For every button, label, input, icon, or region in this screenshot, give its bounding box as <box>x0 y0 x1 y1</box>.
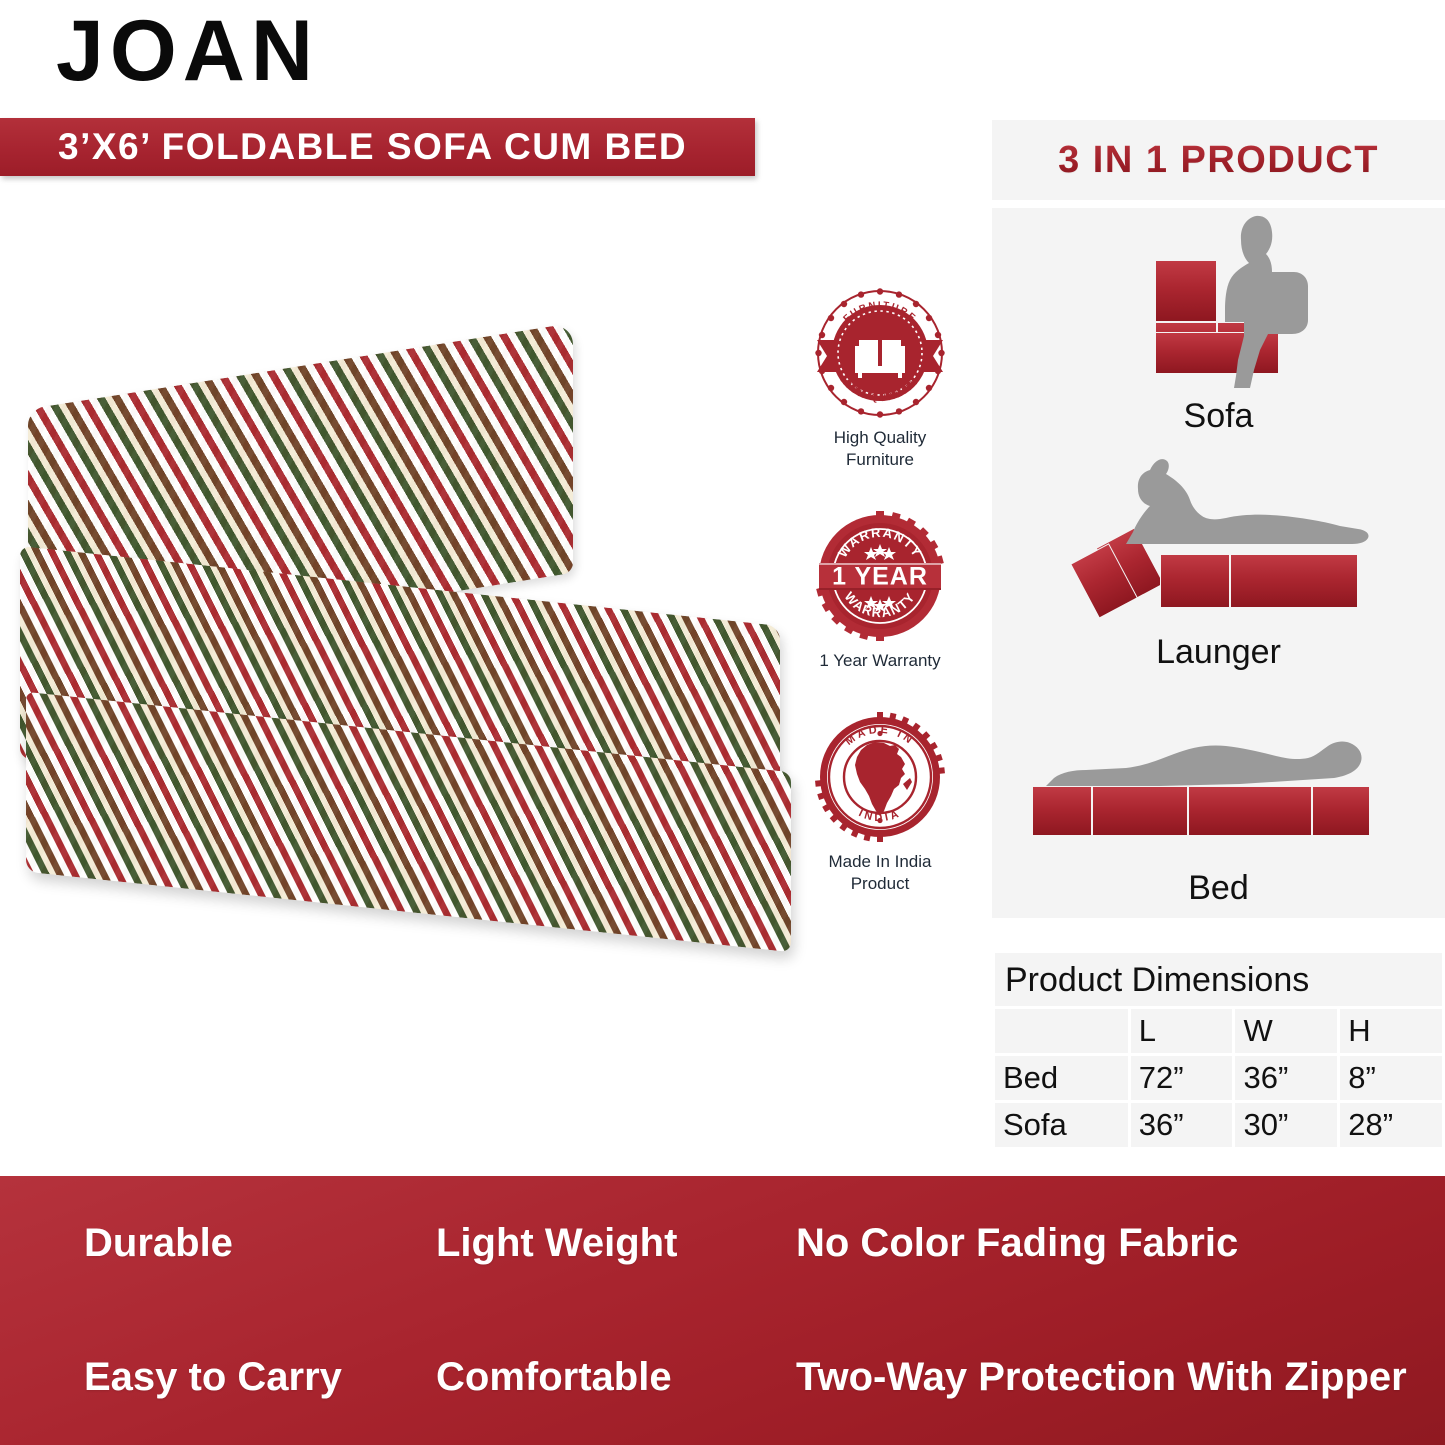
sofa-width: 30” <box>1235 1103 1337 1147</box>
subtitle-banner: 3’X6’ FOLDABLE SOFA CUM BED <box>0 118 755 176</box>
badge-one-year-warranty: 1 YEAR WARRANTY WARRANTY <box>795 511 965 672</box>
row-label-sofa: Sofa <box>995 1103 1128 1147</box>
feature-two-way-zipper: Two-Way Protection With Zipper <box>730 1355 1445 1400</box>
config-sofa-label: Sofa <box>992 397 1445 436</box>
one-year-warranty-seal-icon: 1 YEAR WARRANTY WARRANTY <box>815 511 945 641</box>
col-header-length: L <box>1131 1009 1233 1053</box>
col-header-blank <box>995 1009 1128 1053</box>
features-band: Durable Light Weight No Color Fading Fab… <box>0 1176 1445 1445</box>
person-sitting-icon <box>1198 210 1338 392</box>
config-bed-illustration <box>992 686 1445 864</box>
made-in-india-seal-icon: MADE IN INDIA <box>815 712 945 842</box>
table-row: Bed 72” 36” 8” <box>995 1056 1442 1100</box>
page-title: JOAN <box>56 8 319 94</box>
badge-caption-line2: Furniture <box>795 449 965 471</box>
col-header-width: W <box>1235 1009 1337 1053</box>
config-bed-label: Bed <box>992 869 1445 908</box>
bed-width: 36” <box>1235 1056 1337 1100</box>
badge-high-quality-furniture: FURNITURE HIGH QUALITY High Quality Furn… <box>795 288 965 471</box>
col-header-height: H <box>1340 1009 1442 1053</box>
high-quality-furniture-seal-icon: FURNITURE HIGH QUALITY <box>815 288 945 418</box>
feature-light-weight: Light Weight <box>350 1221 730 1266</box>
feature-no-color-fading: No Color Fading Fabric <box>730 1221 1445 1266</box>
badge-caption: 1 Year Warranty <box>795 650 965 672</box>
product-dimensions-table: Product Dimensions L W H Bed 72” 36” 8” … <box>992 950 1445 1150</box>
person-reclining-icon <box>1104 456 1374 560</box>
badge-caption-line2: Product <box>795 873 965 895</box>
foam-block <box>1092 786 1188 836</box>
config-sofa-illustration <box>992 214 1445 392</box>
dimensions-title: Product Dimensions <box>995 953 1442 1006</box>
person-lying-icon <box>1040 734 1370 792</box>
foam-block <box>1230 554 1358 608</box>
feature-comfortable: Comfortable <box>350 1355 730 1400</box>
bed-length: 72” <box>1131 1056 1233 1100</box>
subtitle-text: 3’X6’ FOLDABLE SOFA CUM BED <box>0 126 687 168</box>
config-launger-illustration <box>992 450 1445 628</box>
table-header-row: L W H <box>995 1009 1442 1053</box>
foam-block <box>1160 554 1230 608</box>
badge-made-in-india: MADE IN INDIA Made In India Product <box>795 712 965 895</box>
table-title-row: Product Dimensions <box>995 953 1442 1006</box>
foam-block <box>1032 786 1092 836</box>
config-bed: Bed <box>992 680 1445 916</box>
sofa-length: 36” <box>1131 1103 1233 1147</box>
three-in-one-header: 3 IN 1 PRODUCT <box>992 120 1445 200</box>
table-row: Sofa 36” 30” 28” <box>995 1103 1442 1147</box>
seal-center-text: 1 YEAR <box>832 563 928 591</box>
badge-caption-line1: 1 Year Warranty <box>795 650 965 672</box>
config-launger-label: Launger <box>992 633 1445 672</box>
foam-block <box>1188 786 1312 836</box>
feature-durable: Durable <box>0 1221 350 1266</box>
bed-height: 8” <box>1340 1056 1442 1100</box>
badge-caption-line1: High Quality <box>795 427 965 449</box>
sofa-height: 28” <box>1340 1103 1442 1147</box>
badge-caption: Made In India Product <box>795 851 965 895</box>
config-launger: Launger <box>992 444 1445 680</box>
three-in-one-title: 3 IN 1 PRODUCT <box>1058 139 1379 182</box>
product-photo <box>10 350 800 950</box>
config-sofa: Sofa <box>992 208 1445 444</box>
row-label-bed: Bed <box>995 1056 1128 1100</box>
trust-badges: FURNITURE HIGH QUALITY High Quality Furn… <box>795 288 965 935</box>
foam-block <box>1312 786 1370 836</box>
three-in-one-body: Sofa Launger Bed <box>992 208 1445 918</box>
badge-caption: High Quality Furniture <box>795 427 965 471</box>
feature-easy-to-carry: Easy to Carry <box>0 1355 350 1400</box>
badge-caption-line1: Made In India <box>795 851 965 873</box>
